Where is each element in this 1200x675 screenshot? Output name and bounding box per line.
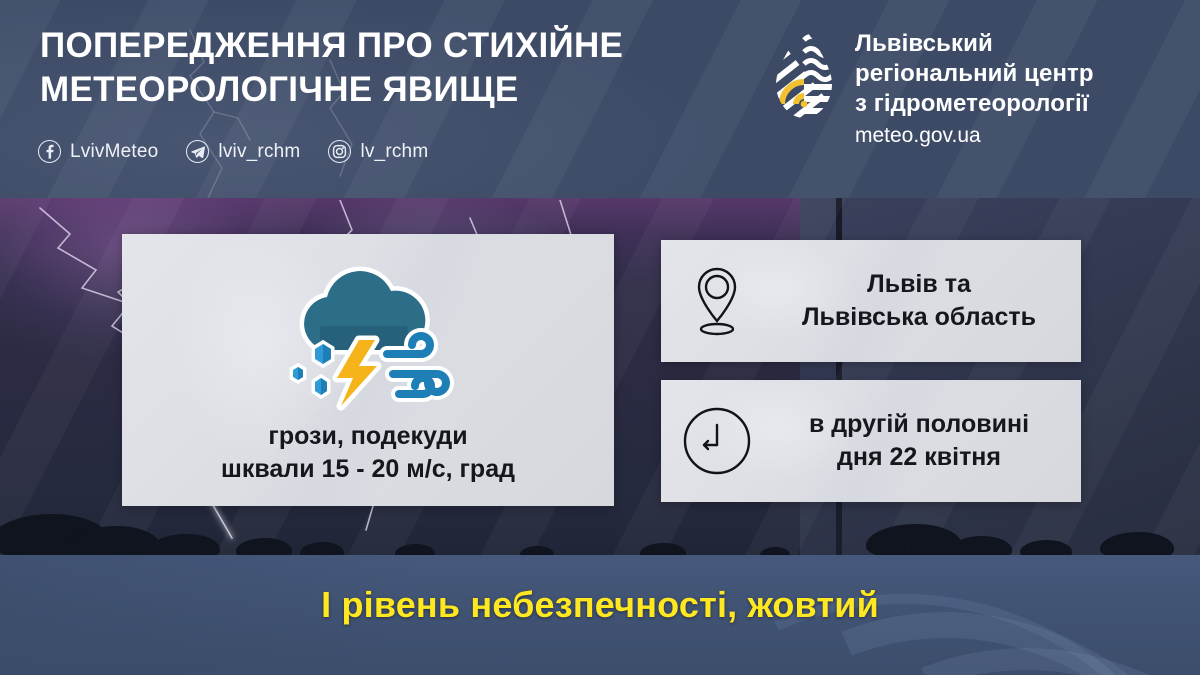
- logo-line-3: з гідрометеорології: [855, 89, 1094, 119]
- facebook-glyph: [44, 144, 55, 159]
- clock-glyph: [679, 403, 755, 479]
- page-title-line-2: МЕТЕОРОЛОГІЧНЕ ЯВИЩЕ: [40, 68, 740, 112]
- header-banner: ПОПЕРЕДЖЕННЯ ПРО СТИХІЙНЕ МЕТЕОРОЛОГІЧНЕ…: [0, 0, 1200, 198]
- phenomenon-description: грози, подекуди шквали 15 - 20 м/с, град: [221, 420, 515, 486]
- logo-line-2: регіональний центр: [855, 59, 1094, 89]
- map-pin-icon: [661, 264, 773, 338]
- water-droplet-logo-icon: [770, 26, 838, 122]
- time-line-2: дня 22 квітня: [773, 441, 1065, 474]
- logo-text-block: Львівський регіональний центр з гідромет…: [855, 26, 1094, 151]
- location-line-2: Львівська область: [773, 301, 1065, 334]
- logo-line-1: Львівський: [855, 29, 1094, 59]
- phenomenon-card: грози, подекуди шквали 15 - 20 м/с, град: [122, 234, 614, 506]
- warning-level-text: I рівень небезпечності, жовтий: [0, 584, 1200, 626]
- telegram-handle: lviv_rchm: [218, 141, 300, 163]
- instagram-glyph: [332, 144, 347, 159]
- social-link-instagram[interactable]: lv_rchm: [328, 140, 428, 163]
- infographic-canvas: I рівень небезпечності, жовтий ПОПЕРЕДЖЕ…: [0, 0, 1200, 675]
- time-line-1: в другій половині: [773, 408, 1065, 441]
- social-links: LvivMeteo lviv_rchm lv: [38, 140, 456, 163]
- telegram-glyph: [191, 146, 205, 158]
- logo-website-url[interactable]: meteo.gov.ua: [855, 121, 1094, 151]
- page-title: ПОПЕРЕДЖЕННЯ ПРО СТИХІЙНЕ МЕТЕОРОЛОГІЧНЕ…: [40, 24, 740, 112]
- telegram-icon: [186, 140, 209, 163]
- facebook-icon: [38, 140, 61, 163]
- facebook-handle: LvivMeteo: [70, 141, 158, 163]
- phenomenon-line-2: шквали 15 - 20 м/с, град: [221, 453, 515, 486]
- thunderstorm-hail-wind-icon: [263, 254, 473, 414]
- instagram-icon: [328, 140, 351, 163]
- location-text: Львів та Львівська область: [773, 268, 1081, 334]
- map-pin-glyph: [689, 264, 745, 338]
- tree-silhouette-band: [0, 498, 1200, 560]
- instagram-handle: lv_rchm: [360, 141, 428, 163]
- location-card: Львів та Львівська область: [661, 240, 1081, 362]
- time-card: в другій половині дня 22 квітня: [661, 380, 1081, 502]
- time-text: в другій половині дня 22 квітня: [773, 408, 1081, 474]
- organization-logo[interactable]: Львівський регіональний центр з гідромет…: [770, 26, 1094, 151]
- phenomenon-line-1: грози, подекуди: [221, 420, 515, 453]
- location-line-1: Львів та: [773, 268, 1065, 301]
- social-link-telegram[interactable]: lviv_rchm: [186, 140, 300, 163]
- page-title-line-1: ПОПЕРЕДЖЕННЯ ПРО СТИХІЙНЕ: [40, 24, 740, 68]
- social-link-facebook[interactable]: LvivMeteo: [38, 140, 158, 163]
- clock-icon: [661, 403, 773, 479]
